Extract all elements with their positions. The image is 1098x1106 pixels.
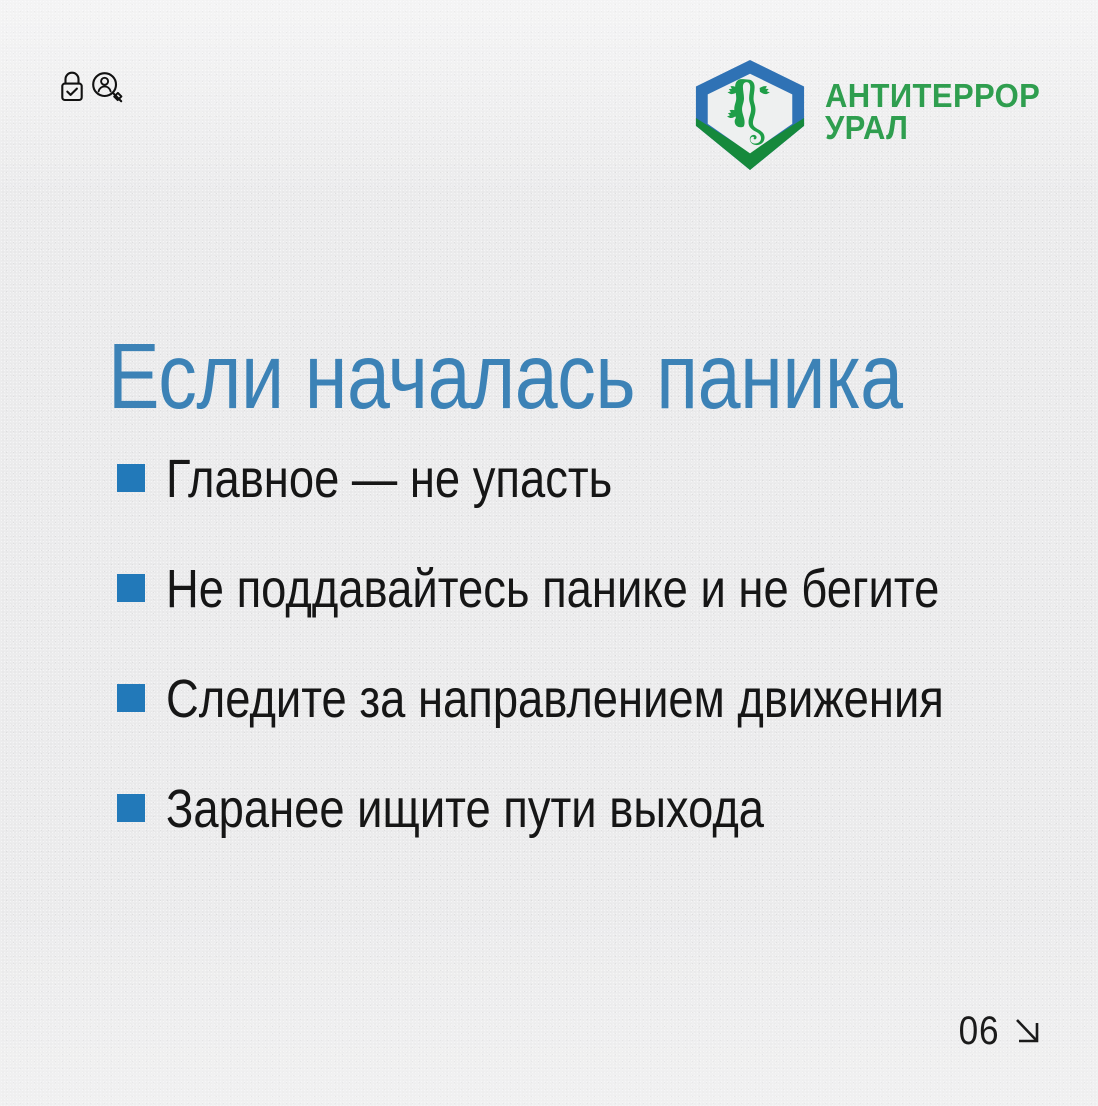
brand-logo-text: АНТИТЕРРОР УРАЛ [825,80,1054,151]
header-icon-group [58,70,124,106]
bullet-square-icon [117,574,145,602]
list-item: Главное — не упасть [117,452,1037,562]
list-item-label: Не поддавайтесь панике и не бегите [166,562,939,616]
list-item-label: Заранее ищите пути выхода [166,782,764,836]
list-item: Заранее ищите пути выхода [117,782,1037,892]
bullet-list: Главное — не упасть Не поддавайтесь пани… [117,452,1037,892]
list-item-label: Следите за направлением движения [166,672,944,726]
page-number-group: 06 [953,1011,1044,1051]
brand-name-line1: АНТИТЕРРОР [825,80,1040,112]
list-item: Следите за направлением движения [117,672,1037,782]
lock-check-icon [58,70,86,104]
brand-name-line2: УРАЛ [825,112,1040,144]
page-number: 06 [958,1011,999,1051]
bullet-square-icon [117,464,145,492]
list-item: Не поддавайтесь панике и не бегите [117,562,1037,672]
person-search-icon [90,70,124,106]
brand-logo: АНТИТЕРРОР УРАЛ [691,57,1054,173]
bullet-square-icon [117,794,145,822]
shield-lizard-logo-mark [691,57,809,173]
list-item-label: Главное — не упасть [166,452,612,506]
arrow-down-right-icon [1011,1015,1043,1047]
bullet-square-icon [117,684,145,712]
slide-title: Если началась паника [108,330,903,423]
slide-canvas: АНТИТЕРРОР УРАЛ Если началась паника Гла… [0,0,1098,1106]
